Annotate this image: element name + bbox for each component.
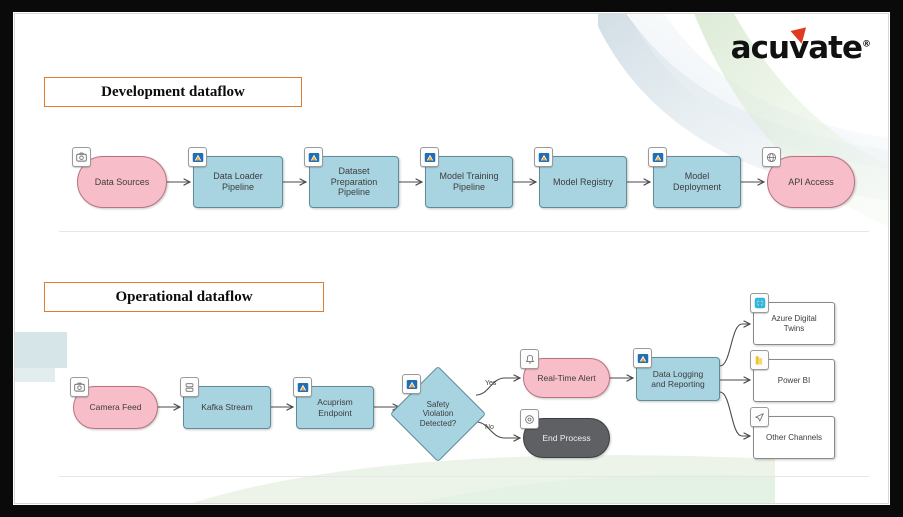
edge-label-no: No (485, 424, 494, 431)
camera-icon (70, 377, 89, 397)
edge-label-no-text: No (485, 424, 494, 431)
node-real-time-alert-label: Real-Time Alert (537, 373, 595, 383)
node-end-process-label: End Process (542, 433, 590, 443)
stop-icon (520, 409, 539, 429)
node-model-training-pipeline-label: Model Training Pipeline (439, 171, 498, 192)
node-model-deployment[interactable]: Model Deployment (653, 156, 741, 208)
bell-icon (520, 349, 539, 369)
pipeline-icon (304, 147, 323, 167)
section-title-operational: Operational dataflow (44, 282, 324, 312)
section-title-operational-label: Operational dataflow (115, 289, 252, 306)
node-data-logging-and-reporting[interactable]: Data Logging and Reporting (636, 357, 720, 401)
edge-label-yes: Yes (485, 380, 496, 387)
pipeline-icon (534, 147, 553, 167)
camera-icon (72, 147, 91, 167)
operational-panel-divider (59, 476, 869, 477)
node-safety-violation-decision[interactable]: Safety Violation Detected? (404, 380, 472, 448)
node-api-access[interactable]: API Access (767, 156, 855, 208)
node-other-channels-label: Other Channels (766, 433, 822, 442)
node-dataset-preparation-pipeline[interactable]: Dataset Preparation Pipeline (309, 156, 399, 208)
node-dataset-preparation-pipeline-label: Dataset Preparation Pipeline (331, 166, 378, 198)
pipeline-icon (188, 147, 207, 167)
left-edge-accent-block (15, 332, 67, 368)
node-acuprism-endpoint-label: Acuprism Endpoint (317, 397, 352, 417)
node-data-loader-pipeline-label: Data Loader Pipeline (213, 171, 263, 192)
node-end-process[interactable]: End Process (523, 418, 610, 458)
node-data-loader-pipeline[interactable]: Data Loader Pipeline (193, 156, 283, 208)
node-acuprism-endpoint[interactable]: Acuprism Endpoint (296, 386, 374, 429)
slide-canvas: acuvate® Development dataflow (14, 13, 889, 504)
node-camera-feed-label: Camera Feed (90, 402, 142, 412)
azure-globe-icon (750, 293, 769, 313)
node-power-bi-label: Power BI (778, 376, 810, 385)
pipeline-icon (402, 374, 421, 394)
node-model-registry-label: Model Registry (553, 177, 613, 188)
report-icon (633, 348, 652, 368)
powerbi-icon (750, 350, 769, 370)
section-title-development-label: Development dataflow (101, 84, 245, 101)
node-kafka-stream[interactable]: Kafka Stream (183, 386, 271, 429)
node-data-sources[interactable]: Data Sources (77, 156, 167, 208)
node-safety-violation-decision-label: Safety Violation Detected? (420, 400, 456, 428)
edge-label-yes-text: Yes (485, 380, 496, 387)
send-icon (750, 407, 769, 427)
node-api-access-label: API Access (788, 177, 834, 188)
slide-screenshot: acuvate® Development dataflow (0, 0, 903, 517)
node-data-sources-label: Data Sources (95, 177, 150, 188)
development-panel-divider (59, 231, 869, 232)
node-model-deployment-label: Model Deployment (673, 171, 721, 192)
stream-icon (180, 377, 199, 397)
node-model-training-pipeline[interactable]: Model Training Pipeline (425, 156, 513, 208)
acuvate-logo: acuvate® (731, 30, 870, 66)
node-real-time-alert[interactable]: Real-Time Alert (523, 358, 610, 398)
pipeline-icon (293, 377, 312, 397)
node-azure-digital-twins[interactable]: Azure Digital Twins (753, 302, 835, 345)
node-camera-feed[interactable]: Camera Feed (73, 386, 158, 429)
pipeline-icon (648, 147, 667, 167)
node-model-registry[interactable]: Model Registry (539, 156, 627, 208)
node-other-channels[interactable]: Other Channels (753, 416, 835, 459)
node-power-bi[interactable]: Power BI (753, 359, 835, 402)
globe-icon (762, 147, 781, 167)
node-data-logging-and-reporting-label: Data Logging and Reporting (651, 369, 704, 389)
pipeline-icon (420, 147, 439, 167)
left-edge-accent-block-2 (15, 368, 55, 382)
node-azure-digital-twins-label: Azure Digital Twins (771, 314, 816, 333)
node-kafka-stream-label: Kafka Stream (201, 402, 253, 412)
registered-mark: ® (862, 40, 870, 50)
section-title-development: Development dataflow (44, 77, 302, 107)
